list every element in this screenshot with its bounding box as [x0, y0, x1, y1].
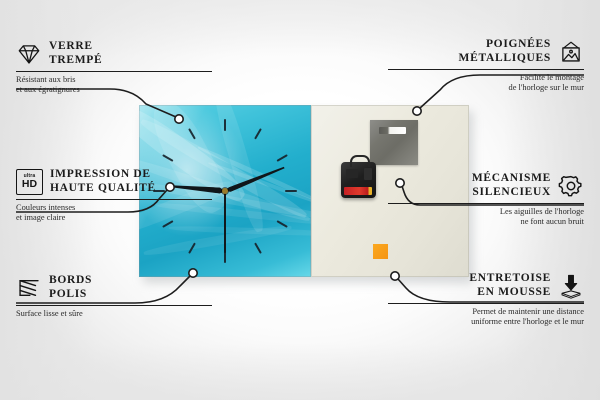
polished-edge-icon [16, 275, 42, 301]
mechanism-hanging-loop [350, 155, 370, 167]
clock-second-hand [224, 191, 226, 253]
hanging-frame-icon [558, 39, 584, 65]
mechanism-chip [364, 168, 372, 180]
feature-divider [16, 199, 212, 200]
clock-tick [224, 119, 226, 131]
feature-title: VERRETREMPÉ [49, 40, 102, 67]
metal-hanger-plate [370, 120, 418, 165]
clock-tick [285, 190, 297, 192]
mechanism-chip [346, 169, 358, 178]
feature-mecanisme-silencieux[interactable]: MÉCANISMESILENCIEUX Les aiguilles de l'h… [388, 172, 584, 228]
battery [344, 187, 372, 195]
feature-description: Surface lisse et sûre [16, 309, 212, 319]
feature-description: Résistant aux briset aux égratignures [16, 75, 212, 96]
feature-title: IMPRESSION DEHAUTE QUALITÉ [50, 168, 156, 195]
feature-divider [16, 305, 212, 306]
feature-bords-polis[interactable]: BORDSPOLIS Surface lisse et sûre [16, 274, 212, 319]
feature-divider [16, 71, 212, 72]
feature-title: POIGNÉESMÉTALLIQUES [459, 38, 551, 65]
arrow-down-pad-icon [558, 273, 584, 299]
feature-divider [388, 69, 584, 70]
hanger-slot [379, 127, 406, 134]
gear-icon [558, 173, 584, 199]
feature-description: Les aiguilles de l'horlogene font aucun … [388, 207, 584, 228]
clock-mechanism [341, 162, 376, 198]
diamond-icon [16, 41, 42, 67]
ultra-hd-icon-main: HD [22, 179, 37, 190]
feature-title: ENTRETOISEEN MOUSSE [469, 272, 551, 299]
feature-entretoise-en-mousse[interactable]: ENTRETOISEEN MOUSSE Permet de maintenir … [388, 272, 584, 328]
feature-description: Couleurs intenseset image claire [16, 203, 212, 224]
feature-divider [388, 303, 584, 304]
feature-poignees-metalliques[interactable]: POIGNÉESMÉTALLIQUES Facilite le montaged… [388, 38, 584, 94]
feature-title: BORDSPOLIS [49, 274, 92, 301]
feature-description: Facilite le montagede l'horloge sur le m… [388, 73, 584, 94]
infographic-canvas: VERRETREMPÉ Résistant aux briset aux égr… [0, 0, 600, 400]
foam-spacer-shadow [380, 248, 392, 261]
clock-center-cap [222, 188, 228, 194]
ultra-hd-icon: ultra HD [16, 169, 43, 195]
foam-spacer [373, 244, 388, 259]
feature-title: MÉCANISMESILENCIEUX [472, 172, 551, 199]
feature-description: Permet de maintenir une distanceuniforme… [388, 307, 584, 328]
feature-impression-hd[interactable]: ultra HD IMPRESSION DEHAUTE QUALITÉ Coul… [16, 168, 212, 224]
feature-divider [388, 203, 584, 204]
feature-verre-trempe[interactable]: VERRETREMPÉ Résistant aux briset aux égr… [16, 40, 212, 96]
